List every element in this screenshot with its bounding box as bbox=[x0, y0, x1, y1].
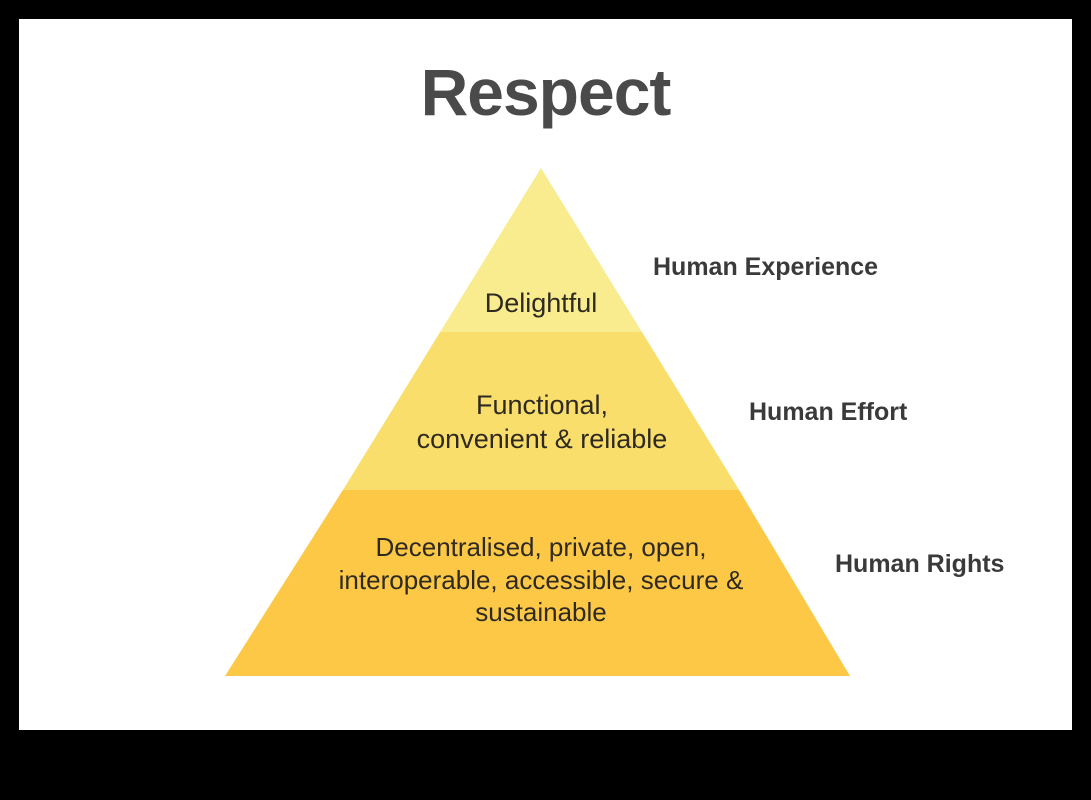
pyramid-tier-top-label: Delightful bbox=[421, 287, 661, 321]
tier-bottom-line-3: sustainable bbox=[299, 596, 783, 629]
tier-bottom-line-2: interoperable, accessible, secure & bbox=[299, 564, 783, 597]
tier-bottom-line-1: Decentralised, private, open, bbox=[299, 531, 783, 564]
page-title: Respect bbox=[19, 59, 1072, 125]
side-label-human-effort: Human Effort bbox=[749, 398, 907, 427]
side-label-human-experience: Human Experience bbox=[653, 253, 878, 282]
tier-top-line-1: Delightful bbox=[421, 287, 661, 321]
pyramid-tier-middle-label: Functional, convenient & reliable bbox=[375, 389, 709, 457]
tier-middle-line-1: Functional, bbox=[375, 389, 709, 423]
tier-middle-line-2: convenient & reliable bbox=[375, 423, 709, 457]
slide-frame: Respect Delightful Functional, convenien… bbox=[0, 0, 1091, 800]
slide-canvas: Respect Delightful Functional, convenien… bbox=[19, 19, 1072, 730]
side-label-human-rights: Human Rights bbox=[835, 550, 1004, 579]
pyramid-tier-bottom-label: Decentralised, private, open, interopera… bbox=[299, 531, 783, 629]
